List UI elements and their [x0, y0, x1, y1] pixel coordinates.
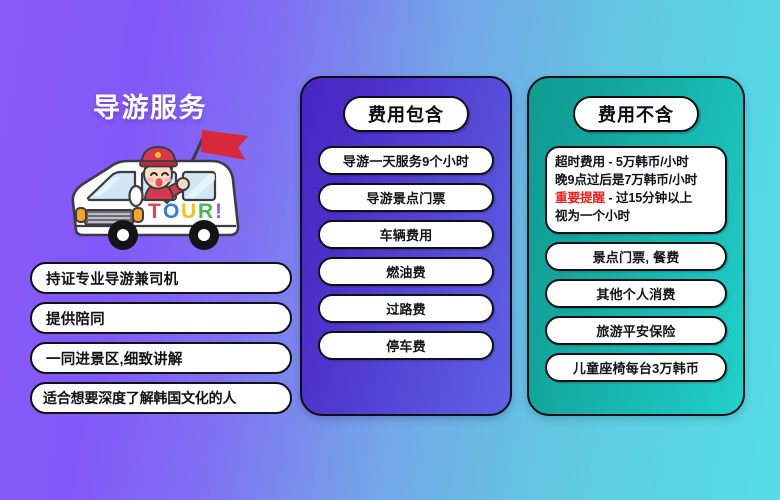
item-label: 燃油费 — [386, 262, 426, 281]
list-item[interactable]: 适合想要深度了解韩国文化的人 — [30, 382, 292, 414]
fees-excluded-title: 费用不含 — [573, 96, 699, 132]
note-line: 晚9点过后是7万韩币/小时 — [555, 172, 717, 189]
feature-label: 提供陪同 — [46, 308, 105, 329]
item-label: 导游景点门票 — [366, 188, 445, 207]
note-text: - 过15分钟以上 — [605, 191, 692, 205]
note-line: 超时费用 - 5万韩币/小时 — [555, 154, 717, 171]
item-label: 旅游平安保险 — [596, 321, 675, 340]
svg-text:!: ! — [215, 200, 222, 223]
note-text: 视为一个小时 — [555, 209, 630, 223]
fees-excluded-list: 超时费用 - 5万韩币/小时 晚9点过后是7万韩币/小时 重要提醒 - 过15分… — [545, 146, 727, 382]
note-text: 超时费用 - 5万韩币/小时 — [555, 155, 689, 169]
svg-text:O: O — [163, 200, 179, 223]
fees-included-title: 费用包含 — [343, 96, 469, 132]
left-column: 导游服务 — [0, 0, 300, 500]
list-item[interactable]: 儿童座椅每台3万韩币 — [545, 353, 727, 382]
fees-included-list: 导游一天服务9个小时 导游景点门票 车辆费用 燃油费 过路费 停车费 — [318, 146, 494, 360]
list-item[interactable]: 旅游平安保险 — [545, 316, 727, 345]
list-item[interactable]: 其他个人消费 — [545, 279, 727, 308]
fees-excluded-card: 费用不含 超时费用 - 5万韩币/小时 晚9点过后是7万韩币/小时 重要提醒 -… — [527, 76, 745, 416]
item-label: 儿童座椅每台3万韩币 — [573, 358, 699, 377]
feature-label: 一同进景区,细致讲解 — [46, 348, 183, 369]
svg-text:T: T — [148, 200, 161, 223]
feature-label: 适合想要深度了解韩国文化的人 — [43, 388, 236, 408]
item-label: 停车费 — [386, 336, 426, 355]
item-label: 车辆费用 — [380, 225, 433, 244]
list-item[interactable]: 过路费 — [318, 294, 494, 323]
list-item[interactable]: 燃油费 — [318, 257, 494, 286]
list-item[interactable]: 一同进景区,细致讲解 — [30, 342, 292, 374]
item-label: 其他个人消费 — [596, 284, 675, 303]
item-label: 过路费 — [386, 299, 426, 318]
svg-text:U: U — [181, 200, 196, 223]
note-line-warning: 重要提醒 - 过15分钟以上 — [555, 190, 717, 207]
poster-stage: 导游服务 — [0, 0, 780, 500]
list-item[interactable]: 提供陪同 — [30, 302, 292, 334]
overtime-note: 超时费用 - 5万韩币/小时 晚9点过后是7万韩币/小时 重要提醒 - 过15分… — [545, 146, 727, 234]
note-text: 晚9点过后是7万韩币/小时 — [555, 173, 697, 187]
list-item[interactable]: 停车费 — [318, 331, 494, 360]
item-label: 导游一天服务9个小时 — [343, 151, 469, 170]
note-line: 视为一个小时 — [555, 208, 717, 225]
list-item[interactable]: 景点门票, 餐费 — [545, 242, 727, 271]
tour-bus-illustration: T O U R ! — [52, 122, 264, 262]
list-item[interactable]: 导游景点门票 — [318, 183, 494, 212]
left-feature-list: 持证专业导游兼司机 提供陪同 一同进景区,细致讲解 适合想要深度了解韩国文化的人 — [30, 262, 292, 414]
page-title: 导游服务 — [0, 86, 300, 125]
svg-text:R: R — [198, 200, 213, 223]
list-item[interactable]: 导游一天服务9个小时 — [318, 146, 494, 175]
fees-included-card: 费用包含 导游一天服务9个小时 导游景点门票 车辆费用 燃油费 过路费 停车费 — [300, 76, 512, 416]
list-item[interactable]: 持证专业导游兼司机 — [30, 262, 292, 294]
list-item[interactable]: 车辆费用 — [318, 220, 494, 249]
item-label: 景点门票, 餐费 — [593, 247, 680, 266]
warning-badge: 重要提醒 — [555, 191, 605, 205]
feature-label: 持证专业导游兼司机 — [46, 268, 178, 289]
